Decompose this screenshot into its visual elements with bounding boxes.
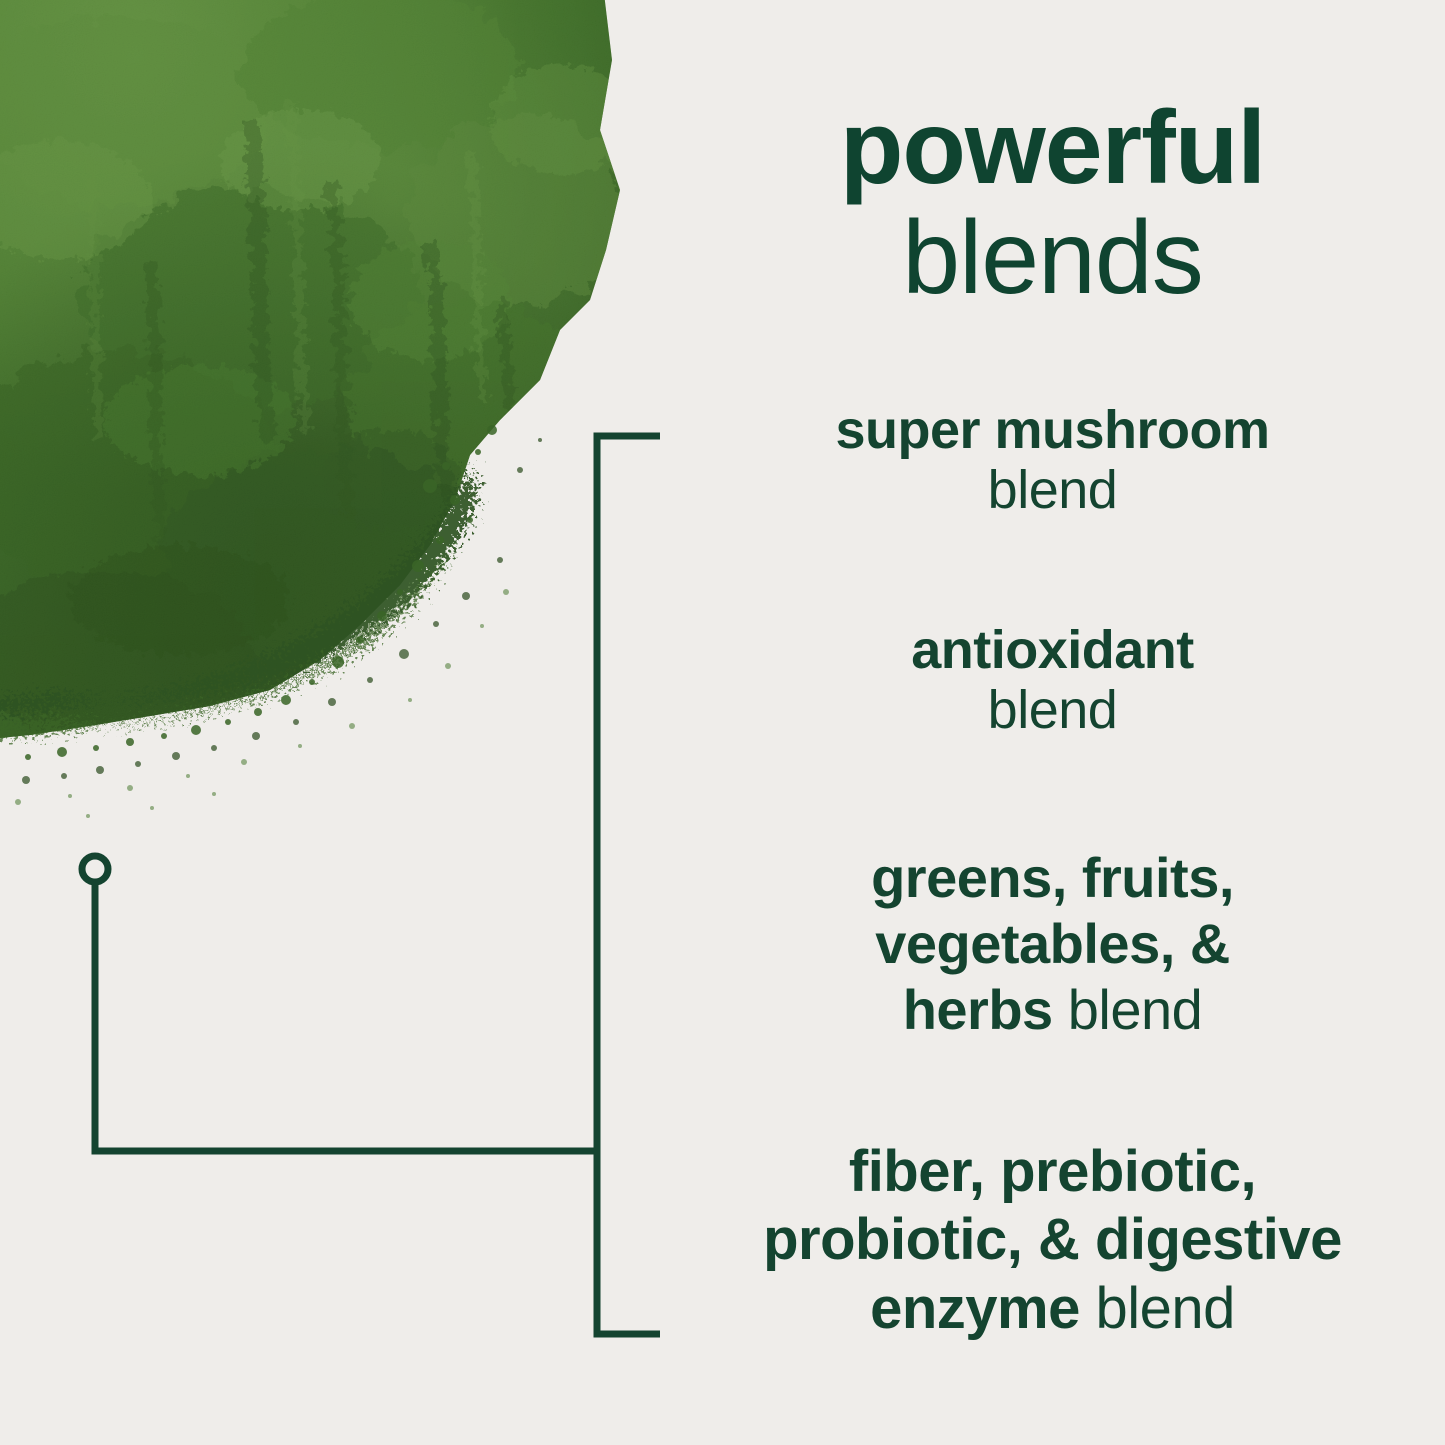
blend-label-line-2: vegetables, & <box>660 911 1445 977</box>
blend-item-fiber-prebiotic-probiotic-digestive-enzyme: fiber, prebiotic, probiotic, & digestive… <box>660 1138 1445 1343</box>
blend-label-line-3-blend: blend <box>1095 1276 1234 1341</box>
connector-dot-icon <box>82 856 108 882</box>
blend-label-line-3-strong: herbs <box>903 978 1053 1041</box>
blend-label-light: blend <box>660 680 1445 740</box>
blend-label-line-3: enzyme blend <box>660 1275 1445 1343</box>
blend-label-line-2: probiotic, & digestive <box>660 1206 1445 1274</box>
blend-label-line-3-strong: enzyme <box>870 1276 1080 1341</box>
blend-item-greens-fruits-vegetables-herbs: greens, fruits, vegetables, & herbs blen… <box>660 845 1445 1043</box>
blend-label-line-1: greens, fruits, <box>660 845 1445 911</box>
blend-label-strong: antioxidant <box>660 620 1445 680</box>
blend-label-line-3: herbs blend <box>660 977 1445 1043</box>
blend-item-super-mushroom: super mushroom blend <box>660 400 1445 521</box>
blend-label-line-3-blend: blend <box>1068 978 1203 1041</box>
blend-label-light: blend <box>660 460 1445 520</box>
blend-label-line-1: fiber, prebiotic, <box>660 1138 1445 1206</box>
blend-label-line-3-space <box>1080 1276 1096 1341</box>
blend-label-line-3-light <box>1053 978 1068 1041</box>
product-infographic: powerful blends super mushroom blend ant… <box>0 0 1445 1445</box>
powder-image <box>0 0 660 830</box>
blend-item-antioxidant: antioxidant blend <box>660 620 1445 741</box>
blend-label-strong: super mushroom <box>660 400 1445 460</box>
blend-list: super mushroom blend antioxidant blend g… <box>660 0 1445 1445</box>
